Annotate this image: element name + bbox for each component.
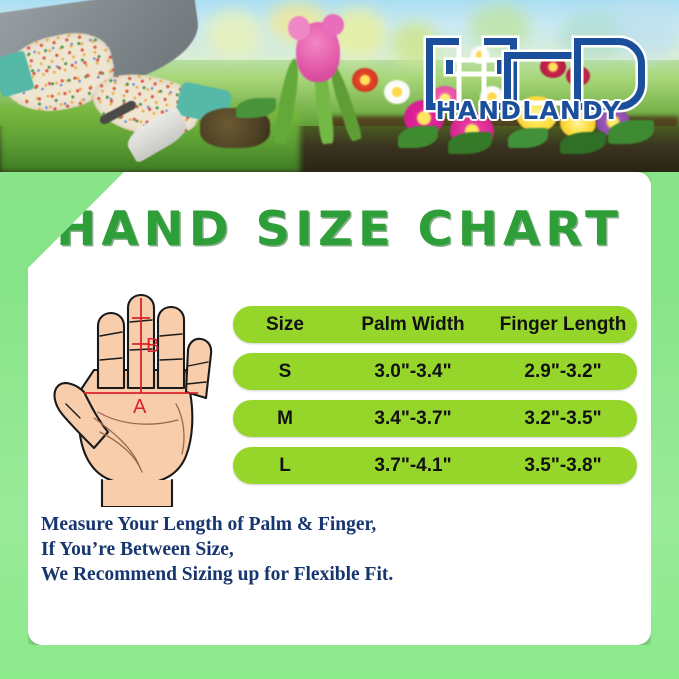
cell-finger-length: 3.5"-3.8": [489, 455, 637, 477]
hyacinth-bloom: [288, 16, 310, 40]
size-chart-card: HAND SIZE CHART: [28, 172, 651, 645]
brand-logo: HANDLANDY: [426, 38, 631, 133]
note-line-3: We Recommend Sizing up for Flexible Fit.: [41, 562, 641, 587]
cell-palm-width: 3.7"-4.1": [337, 455, 489, 477]
logo-wordmark: HANDLANDY: [426, 96, 631, 125]
table-header-row: Size Palm Width Finger Length: [233, 306, 637, 343]
table-row: M 3.4"-3.7" 3.2"-3.5": [233, 400, 637, 437]
table-row: L 3.7"-4.1" 3.5"-3.8": [233, 447, 637, 484]
sizing-note: Measure Your Length of Palm & Finger, If…: [41, 512, 641, 587]
bellis-red: [352, 68, 378, 92]
logo-mark: [426, 38, 631, 96]
cell-size: S: [233, 361, 337, 383]
note-line-2: If You’re Between Size,: [41, 537, 641, 562]
cell-palm-width: 3.4"-3.7": [337, 408, 489, 430]
size-chart-page: HANDLANDY HAND SIZE CHART: [0, 0, 679, 679]
measure-label-a: A: [133, 396, 147, 418]
cell-size: L: [233, 455, 337, 477]
daisy-white: [384, 80, 410, 104]
hand-diagram: A B: [36, 292, 226, 507]
header-palm-width: Palm Width: [337, 314, 489, 336]
table-row: S 3.0"-3.4" 2.9"-3.2": [233, 353, 637, 390]
header-size: Size: [233, 314, 337, 336]
size-table: Size Palm Width Finger Length S 3.0"-3.4…: [233, 306, 637, 494]
cell-finger-length: 2.9"-3.2": [489, 361, 637, 383]
note-line-1: Measure Your Length of Palm & Finger,: [41, 512, 641, 537]
cell-size: M: [233, 408, 337, 430]
cell-palm-width: 3.0"-3.4": [337, 361, 489, 383]
measure-label-b: B: [146, 335, 159, 357]
cell-finger-length: 3.2"-3.5": [489, 408, 637, 430]
hand-illustration-svg: A B: [36, 292, 226, 507]
page-title: HAND SIZE CHART: [22, 202, 657, 257]
bokeh-blob: [206, 10, 262, 56]
hyacinth-bloom: [322, 14, 344, 36]
header-finger-length: Finger Length: [489, 314, 637, 336]
